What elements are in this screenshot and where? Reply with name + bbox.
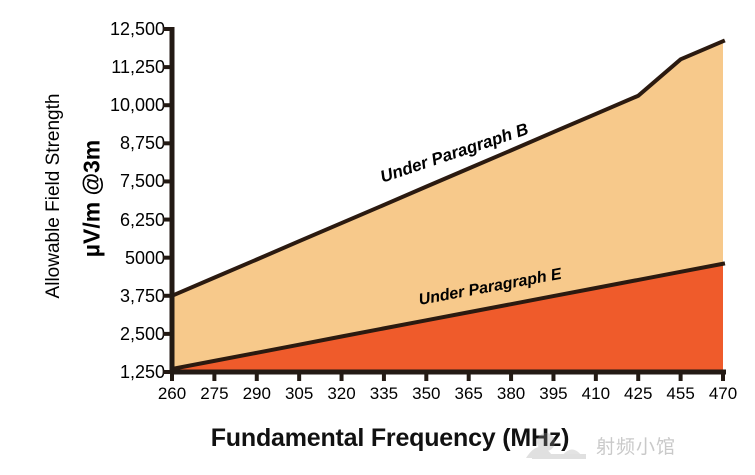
x-axis-tick-labels: 2602752903053203353503653803954104254554…: [0, 0, 755, 475]
watermark-blob-icon: [520, 428, 598, 464]
watermark-text: 射频小馆: [596, 432, 676, 459]
chart-container: Allowable Field Strength µV/m @3m 1,2502…: [0, 0, 755, 475]
x-axis-tick-label: 470: [693, 385, 753, 402]
